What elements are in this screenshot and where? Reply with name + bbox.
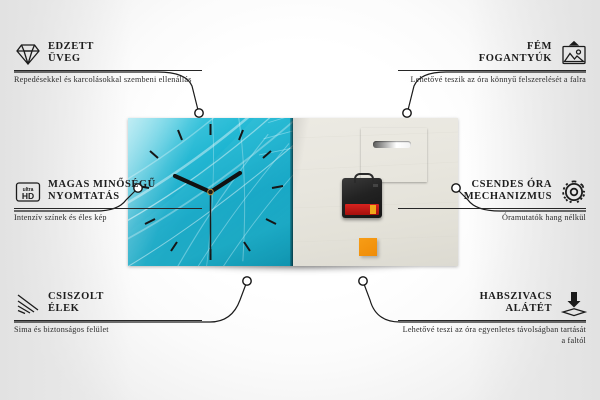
divider (398, 320, 586, 321)
feature-metal-handles[interactable]: FÉMFOGANTYÚK Lehetővé teszik az óra könn… (398, 40, 586, 86)
foam-pad-arrow-icon (560, 290, 586, 316)
picture-hanger-icon (560, 40, 586, 66)
feature-polished-edges[interactable]: CSISZOLTÉLEK Sima és biztonságos felület (14, 290, 202, 336)
polished-edge-icon (14, 290, 40, 316)
divider (14, 70, 202, 71)
feature-title: CSENDES ÓRAMECHANIZMUS (464, 179, 552, 204)
infographic-canvas: EDZETTÜVEG Repedésekkel és karcolásokkal… (0, 0, 600, 400)
gear-icon (560, 178, 586, 204)
hotspot-handles (403, 109, 411, 117)
diamond-icon (14, 40, 40, 66)
feature-silent-mechanism[interactable]: CSENDES ÓRAMECHANIZMUS Óramutatók hang n… (398, 178, 586, 224)
hotspot-tempered-glass (195, 109, 203, 117)
ultra-hd-icon: ultra HD (14, 178, 40, 204)
hotspot-foam (359, 277, 367, 285)
feature-title: HABSZIVACSALÁTÉT (480, 291, 552, 316)
feature-title: CSISZOLTÉLEK (48, 291, 104, 316)
feature-title: EDZETTÜVEG (48, 41, 94, 66)
hotspot-edges (243, 277, 251, 285)
divider (14, 208, 202, 209)
svg-text:HD: HD (22, 191, 34, 201)
feature-subtitle: Óramutatók hang nélkül (398, 213, 586, 224)
feature-title: MAGAS MINŐSÉGŰNYOMTATÁS (48, 179, 156, 204)
feature-high-quality-print[interactable]: ultra HD MAGAS MINŐSÉGŰNYOMTATÁS Intenzí… (14, 178, 202, 224)
divider (398, 70, 586, 71)
divider (14, 320, 202, 321)
feature-subtitle: Lehetővé teszik az óra könnyű felszerelé… (398, 75, 586, 86)
feature-title: FÉMFOGANTYÚK (479, 41, 552, 66)
feature-subtitle: Repedésekkel és karcolásokkal szembeni e… (14, 75, 202, 86)
feature-subtitle: Sima és biztonságos felület (14, 325, 202, 336)
feature-subtitle: Intenzív színek és éles kép (14, 213, 202, 224)
feature-tempered-glass[interactable]: EDZETTÜVEG Repedésekkel és karcolásokkal… (14, 40, 202, 86)
divider (398, 208, 586, 209)
feature-foam-pad[interactable]: HABSZIVACSALÁTÉT Lehetővé teszi az óra e… (398, 290, 586, 346)
feature-subtitle: Lehetővé teszi az óra egyenletes távolsá… (398, 325, 586, 346)
